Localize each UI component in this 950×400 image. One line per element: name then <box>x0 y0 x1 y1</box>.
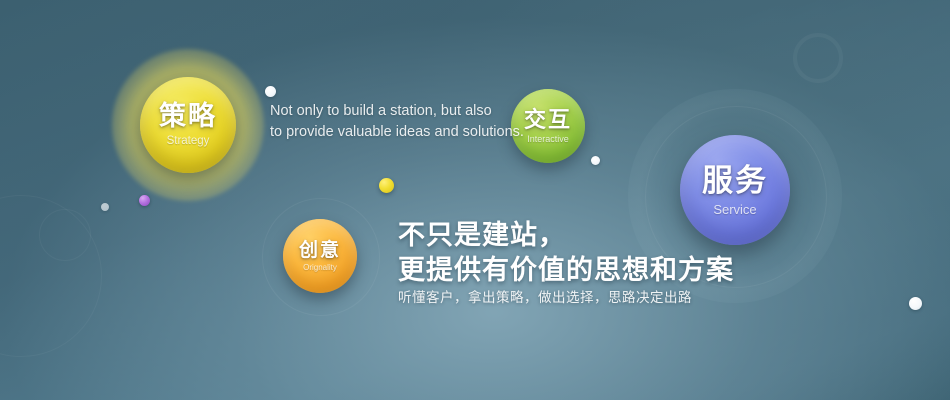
subheadline: 听懂客户，拿出策略，做出选择，思路决定出路 <box>398 286 692 306</box>
decorative-dot-1 <box>265 86 276 97</box>
decorative-dot-2 <box>591 156 600 165</box>
sphere-originality-label-en: Orignality <box>303 264 337 272</box>
sphere-strategy[interactable]: 策略 Strategy <box>140 77 236 173</box>
decorative-dot-5 <box>379 178 394 193</box>
english-tagline-line2: to provide valuable ideas and solutions. <box>270 122 510 143</box>
decorative-dot-6 <box>909 297 922 310</box>
sphere-interactive-label-cn: 交互 <box>524 109 572 131</box>
sphere-service-label-cn: 服务 <box>702 165 768 196</box>
decorative-arc-left <box>0 195 102 357</box>
decorative-dot-4 <box>139 195 150 206</box>
decorative-ring-top-right <box>793 33 843 83</box>
english-tagline: Not only to build a station, but also to… <box>270 101 510 143</box>
decorative-dot-3 <box>101 203 109 211</box>
hero-banner: 策略 Strategy 交互 Interactive 创意 Orignality… <box>0 0 950 400</box>
sphere-service-label-en: Service <box>713 203 756 216</box>
headline-line1: 不只是建站， <box>398 218 734 253</box>
sphere-originality-label-cn: 创意 <box>299 241 341 260</box>
headline: 不只是建站， 更提供有价值的思想和方案 <box>398 218 734 287</box>
sphere-interactive-label-en: Interactive <box>527 135 569 144</box>
sphere-strategy-label-cn: 策略 <box>159 103 217 130</box>
english-tagline-line1: Not only to build a station, but also <box>270 101 510 122</box>
sphere-strategy-label-en: Strategy <box>167 136 210 148</box>
headline-line2: 更提供有价值的思想和方案 <box>398 253 734 288</box>
sphere-originality[interactable]: 创意 Orignality <box>283 219 357 293</box>
